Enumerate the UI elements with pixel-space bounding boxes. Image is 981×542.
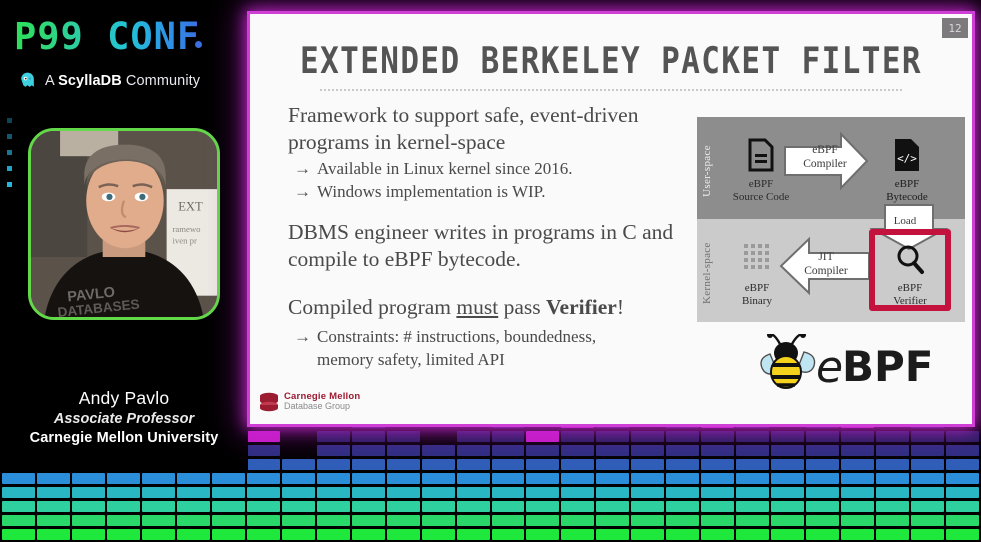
speaker-info: Andy Pavlo Associate Professor Carnegie … — [0, 388, 248, 446]
equalizer-cell — [911, 501, 944, 512]
equalizer-cell — [247, 529, 280, 540]
equalizer-cell — [561, 473, 594, 484]
equalizer-cell — [596, 529, 629, 540]
equalizer-cell — [247, 487, 280, 498]
equalizer-cell — [561, 515, 594, 526]
equalizer-cell — [107, 515, 140, 526]
verifier-underlined: must — [456, 295, 498, 319]
equalizer-cell — [946, 515, 979, 526]
equalizer-cell — [946, 473, 979, 484]
equalizer-cell — [806, 473, 839, 484]
compiler-label-line2: Compiler — [803, 158, 846, 170]
speaker-job-title: Associate Professor — [0, 411, 248, 427]
equalizer-cell — [72, 515, 105, 526]
node-label-line1: eBPF — [871, 178, 943, 191]
equalizer-cell — [631, 501, 664, 512]
stream-viewport: P99 CONF A ScyllaDB Community — [0, 0, 981, 542]
equalizer-cell — [457, 501, 490, 512]
equalizer-cell — [457, 431, 490, 442]
community-tagline: A ScyllaDB Community — [18, 71, 200, 90]
equalizer-cell — [177, 473, 210, 484]
equalizer-cell — [911, 529, 944, 540]
equalizer-cell — [142, 501, 175, 512]
equalizer-cell — [177, 487, 210, 498]
community-tagline-text: A ScyllaDB Community — [45, 73, 200, 89]
node-label-line2: Source Code — [725, 191, 797, 204]
equalizer-cell — [771, 487, 804, 498]
equalizer-cell — [492, 431, 525, 442]
equalizer-cell — [631, 487, 664, 498]
equalizer-cell — [387, 459, 420, 470]
equalizer-cell — [457, 473, 490, 484]
equalizer-cell — [282, 431, 315, 442]
equalizer-cell — [317, 459, 350, 470]
equalizer-cell — [841, 487, 874, 498]
equalizer-cell — [911, 515, 944, 526]
node-label-line2: Bytecode — [871, 191, 943, 204]
equalizer-cell — [701, 459, 734, 470]
equalizer-cell — [387, 431, 420, 442]
equalizer-cell — [526, 501, 559, 512]
equalizer-cell — [596, 459, 629, 470]
equalizer-cell — [526, 515, 559, 526]
verifier-post: ! — [617, 295, 624, 319]
equalizer-cell — [596, 431, 629, 442]
equalizer-cell — [352, 487, 385, 498]
equalizer-cell — [282, 501, 315, 512]
equalizer-cell — [841, 459, 874, 470]
speaker-webcam-video[interactable]: EXT ramewo iven pr PAVL — [28, 128, 220, 320]
equalizer-cell — [631, 515, 664, 526]
equalizer-cell — [736, 431, 769, 442]
ebpf-logo-text: e — [816, 342, 843, 392]
equalizer-cell — [212, 501, 245, 512]
equalizer-cell — [107, 501, 140, 512]
jit-label-line2: Compiler — [804, 265, 847, 277]
equalizer-cell — [317, 529, 350, 540]
kernel-space-label: Kernel-space — [701, 246, 713, 304]
equalizer-cell — [317, 515, 350, 526]
jit-label-line1: JIT — [818, 251, 833, 263]
logo-dot-icon — [195, 41, 202, 48]
equalizer-cell — [841, 445, 874, 456]
equalizer-cell — [107, 487, 140, 498]
equalizer-cell — [317, 445, 350, 456]
equalizer-cell — [387, 445, 420, 456]
equalizer-cell — [771, 529, 804, 540]
equalizer-cell — [701, 515, 734, 526]
equalizer-cell — [72, 501, 105, 512]
constraints-text-1: Constraints: # instructions, boundedness… — [317, 325, 688, 348]
equalizer-cell — [841, 431, 874, 442]
equalizer-cell — [911, 473, 944, 484]
equalizer-cell — [457, 487, 490, 498]
magnifier-icon — [877, 239, 943, 279]
grid-binary-icon — [721, 239, 793, 279]
equalizer-cell — [142, 529, 175, 540]
equalizer-cell — [352, 529, 385, 540]
equalizer-cell — [282, 529, 315, 540]
equalizer-cell — [387, 473, 420, 484]
compiler-label-line1: eBPF — [812, 144, 838, 156]
equalizer-cell — [736, 473, 769, 484]
equalizer-cell — [946, 501, 979, 512]
node-label-line2: Binary — [721, 295, 793, 308]
equalizer-cell — [526, 487, 559, 498]
equalizer-cell — [736, 515, 769, 526]
equalizer-cell — [352, 473, 385, 484]
equalizer-cell — [247, 431, 280, 442]
equalizer-cell — [841, 473, 874, 484]
bullet-sub-2-text: Windows implementation is WIP. — [317, 180, 688, 203]
node-ebpf-binary: eBPF Binary — [721, 239, 793, 307]
equalizer-cell — [352, 445, 385, 456]
equalizer-cell — [352, 431, 385, 442]
equalizer-cell — [841, 529, 874, 540]
equalizer-cell — [282, 515, 315, 526]
title-underline-rule — [320, 89, 902, 91]
equalizer-cell — [107, 473, 140, 484]
equalizer-cell — [806, 529, 839, 540]
constraints-text-2: memory safety, limited API — [317, 348, 688, 371]
equalizer-cell — [736, 445, 769, 456]
node-label-line1: eBPF — [877, 282, 943, 295]
equalizer-cell — [946, 431, 979, 442]
equalizer-cell — [911, 459, 944, 470]
equalizer-cell — [771, 459, 804, 470]
arrow-glyph-icon: → — [294, 157, 317, 180]
equalizer-cell — [561, 459, 594, 470]
equalizer-cell — [526, 459, 559, 470]
equalizer-cell — [806, 459, 839, 470]
equalizer-cell — [876, 431, 909, 442]
equalizer-cell — [142, 473, 175, 484]
compiler-arrow-label: eBPF Compiler — [789, 144, 861, 172]
equalizer-cell — [422, 459, 455, 470]
bullet-lead-1: Framework to support safe, event-driven … — [288, 102, 688, 156]
equalizer-cell — [247, 515, 280, 526]
equalizer-cell — [911, 431, 944, 442]
node-ebpf-bytecode: </> eBPF Bytecode — [871, 135, 943, 203]
equalizer-cell — [631, 445, 664, 456]
equalizer-cell — [561, 529, 594, 540]
arrow-glyph-icon: → — [294, 325, 317, 348]
svg-text:ramewo: ramewo — [172, 224, 201, 234]
equalizer-cell — [282, 487, 315, 498]
equalizer-cell — [247, 473, 280, 484]
p99conf-logo: P99 CONF — [14, 18, 200, 55]
verifier-statement: Compiled program must pass Verifier! — [288, 294, 688, 321]
document-icon — [725, 135, 797, 175]
equalizer-cell — [247, 459, 280, 470]
equalizer-cell — [212, 487, 245, 498]
verifier-pre: Compiled program — [288, 295, 456, 319]
bullet-sub-1: → Available in Linux kernel since 2016. — [288, 157, 688, 180]
ebpf-logo-text-bold: BPF — [842, 342, 934, 391]
cmu-logo-text: Carnegie Mellon Database Group — [284, 392, 360, 411]
verifier-bold: Verifier — [546, 295, 617, 319]
equalizer-cell — [212, 515, 245, 526]
equalizer-cell — [282, 459, 315, 470]
user-space-label: User-space — [701, 144, 713, 198]
arrow-glyph-icon: → — [294, 180, 317, 203]
equalizer-cell — [387, 501, 420, 512]
equalizer-cell — [666, 459, 699, 470]
equalizer-cell — [72, 487, 105, 498]
ebpf-pipeline-diagram: User-space Kernel-space eBPF Compiler Lo… — [697, 117, 965, 322]
constraints-line-2: memory safety, limited API — [288, 348, 688, 371]
equalizer-cell — [492, 529, 525, 540]
speaker-panel: P99 CONF A ScyllaDB Community — [0, 0, 248, 470]
community-brand: ScyllaDB — [58, 73, 122, 89]
equalizer-cell — [317, 473, 350, 484]
equalizer-cell — [142, 487, 175, 498]
equalizer-cell — [526, 473, 559, 484]
equalizer-cell — [806, 431, 839, 442]
equalizer-cell — [946, 529, 979, 540]
equalizer-cell — [631, 459, 664, 470]
equalizer-cell — [37, 473, 70, 484]
arrow-spacer — [294, 348, 317, 371]
presentation-slide: 12 EXTENDED BERKELEY PACKET FILTER Frame… — [250, 14, 972, 424]
equalizer-cell — [247, 501, 280, 512]
equalizer-cell — [492, 473, 525, 484]
equalizer-cell — [2, 501, 35, 512]
equalizer-cell — [457, 459, 490, 470]
community-prefix: A — [45, 73, 58, 89]
equalizer-cell — [37, 501, 70, 512]
accent-dot-icon — [7, 118, 12, 123]
equalizer-cell — [492, 487, 525, 498]
equalizer-cell — [37, 487, 70, 498]
equalizer-cell — [946, 487, 979, 498]
equalizer-cell — [247, 445, 280, 456]
bullet-sub-2: → Windows implementation is WIP. — [288, 180, 688, 203]
load-arrow-label: Load — [877, 215, 933, 228]
accent-dot-icon — [7, 134, 12, 139]
equalizer-cell — [72, 529, 105, 540]
equalizer-cell — [177, 515, 210, 526]
equalizer-cell — [2, 515, 35, 526]
constraints-line-1: → Constraints: # instructions, boundedne… — [288, 325, 688, 348]
equalizer-cell — [701, 445, 734, 456]
equalizer-cell — [561, 445, 594, 456]
equalizer-cell — [422, 529, 455, 540]
equalizer-cell — [2, 473, 35, 484]
node-ebpf-source-code: eBPF Source Code — [725, 135, 797, 203]
equalizer-cell — [37, 529, 70, 540]
equalizer-cell — [631, 529, 664, 540]
equalizer-cell — [771, 515, 804, 526]
equalizer-cell — [736, 459, 769, 470]
equalizer-cell — [876, 459, 909, 470]
code-file-icon: </> — [871, 135, 943, 175]
equalizer-cell — [596, 501, 629, 512]
svg-text:iven pr: iven pr — [172, 235, 197, 245]
equalizer-cell — [631, 473, 664, 484]
equalizer-cell — [911, 487, 944, 498]
equalizer-cell — [666, 473, 699, 484]
equalizer-cell — [666, 515, 699, 526]
p99conf-logo-text: P99 CONF — [14, 18, 200, 55]
cmu-logo-line2: Database Group — [284, 402, 360, 411]
equalizer-cell — [701, 501, 734, 512]
equalizer-cell — [631, 431, 664, 442]
community-suffix: Community — [122, 73, 200, 89]
equalizer-cell — [701, 473, 734, 484]
svg-text:EXT: EXT — [178, 199, 203, 213]
equalizer-cell — [771, 473, 804, 484]
equalizer-cell — [107, 529, 140, 540]
equalizer-cell — [666, 487, 699, 498]
scylla-monster-icon — [18, 71, 37, 90]
equalizer-cell — [666, 445, 699, 456]
equalizer-cell — [806, 515, 839, 526]
equalizer-cell — [911, 445, 944, 456]
equalizer-cell — [387, 487, 420, 498]
cmu-database-group-logo: Carnegie Mellon Database Group — [258, 389, 366, 415]
equalizer-cell — [876, 529, 909, 540]
svg-text:</>: </> — [897, 152, 917, 165]
equalizer-cell — [352, 501, 385, 512]
bullet-lead-2: DBMS engineer writes in programs in C an… — [288, 219, 688, 273]
equalizer-cell — [177, 501, 210, 512]
equalizer-cell — [212, 473, 245, 484]
node-label-line1: eBPF — [725, 178, 797, 191]
equalizer-cell — [841, 515, 874, 526]
equalizer-cell — [666, 431, 699, 442]
slide-number-badge: 12 — [942, 18, 968, 38]
equalizer-cell — [666, 501, 699, 512]
bullet-sub-1-text: Available in Linux kernel since 2016. — [317, 157, 688, 180]
equalizer-cell — [317, 487, 350, 498]
equalizer-cell — [422, 487, 455, 498]
equalizer-cell — [561, 501, 594, 512]
node-label-line1: eBPF — [721, 282, 793, 295]
equalizer-cell — [72, 473, 105, 484]
equalizer-cell — [806, 487, 839, 498]
equalizer-cell — [317, 501, 350, 512]
equalizer-cell — [2, 529, 35, 540]
equalizer-cell — [596, 445, 629, 456]
equalizer-cell — [352, 515, 385, 526]
equalizer-cell — [526, 445, 559, 456]
equalizer-cell — [596, 487, 629, 498]
equalizer-cell — [806, 501, 839, 512]
equalizer-cell — [352, 459, 385, 470]
slide-title: EXTENDED BERKELEY PACKET FILTER — [250, 40, 972, 82]
equalizer-cell — [492, 459, 525, 470]
equalizer-cell — [422, 445, 455, 456]
equalizer-cell — [282, 445, 315, 456]
equalizer-cell — [736, 529, 769, 540]
equalizer-cell — [806, 445, 839, 456]
equalizer-cell — [177, 529, 210, 540]
equalizer-cell — [422, 431, 455, 442]
equalizer-cell — [457, 529, 490, 540]
equalizer-cell — [142, 515, 175, 526]
equalizer-cell — [666, 529, 699, 540]
slide-body: Framework to support safe, event-driven … — [288, 102, 688, 371]
equalizer-cell — [876, 487, 909, 498]
speaker-organization: Carnegie Mellon University — [0, 430, 248, 446]
equalizer-cell — [492, 515, 525, 526]
accent-dot-icon — [7, 182, 12, 187]
equalizer-cell — [771, 501, 804, 512]
ebpf-brand-logo: e BPF — [758, 334, 958, 392]
speaker-name: Andy Pavlo — [0, 388, 248, 409]
equalizer-cell — [387, 529, 420, 540]
equalizer-cell — [736, 487, 769, 498]
equalizer-cell — [422, 473, 455, 484]
webcam-frame: EXT ramewo iven pr PAVL — [31, 131, 217, 317]
equalizer-cell — [492, 445, 525, 456]
equalizer-cell — [876, 501, 909, 512]
equalizer-cell — [492, 501, 525, 512]
equalizer-cell — [457, 445, 490, 456]
equalizer-cell — [876, 515, 909, 526]
accent-dot-icon — [7, 150, 12, 155]
equalizer-cell — [946, 445, 979, 456]
verifier-mid: pass — [498, 295, 546, 319]
node-ebpf-verifier: eBPF Verifier — [877, 239, 943, 307]
equalizer-cell — [526, 431, 559, 442]
equalizer-cell — [701, 529, 734, 540]
equalizer-cell — [387, 515, 420, 526]
equalizer-cell — [422, 515, 455, 526]
equalizer-cell — [771, 431, 804, 442]
equalizer-cell — [2, 487, 35, 498]
accent-dots — [7, 118, 12, 187]
equalizer-cell — [771, 445, 804, 456]
equalizer-cell — [457, 515, 490, 526]
equalizer-cell — [561, 487, 594, 498]
equalizer-cell — [876, 445, 909, 456]
equalizer-cell — [701, 431, 734, 442]
equalizer-cell — [422, 501, 455, 512]
equalizer-cell — [282, 473, 315, 484]
equalizer-cell — [946, 459, 979, 470]
equalizer-cell — [317, 431, 350, 442]
bee-icon — [761, 334, 815, 388]
node-label-line2: Verifier — [877, 295, 943, 308]
equalizer-cell — [736, 501, 769, 512]
equalizer-cell — [596, 473, 629, 484]
equalizer-cell — [876, 473, 909, 484]
equalizer-cell — [212, 529, 245, 540]
database-cylinder-icon — [258, 392, 280, 412]
equalizer-cell — [37, 515, 70, 526]
equalizer-cell — [701, 487, 734, 498]
equalizer-cell — [561, 431, 594, 442]
jit-arrow-label: JIT Compiler — [791, 251, 861, 279]
equalizer-cell — [841, 501, 874, 512]
equalizer-cell — [596, 515, 629, 526]
accent-dot-icon — [7, 166, 12, 171]
equalizer-cell — [526, 529, 559, 540]
